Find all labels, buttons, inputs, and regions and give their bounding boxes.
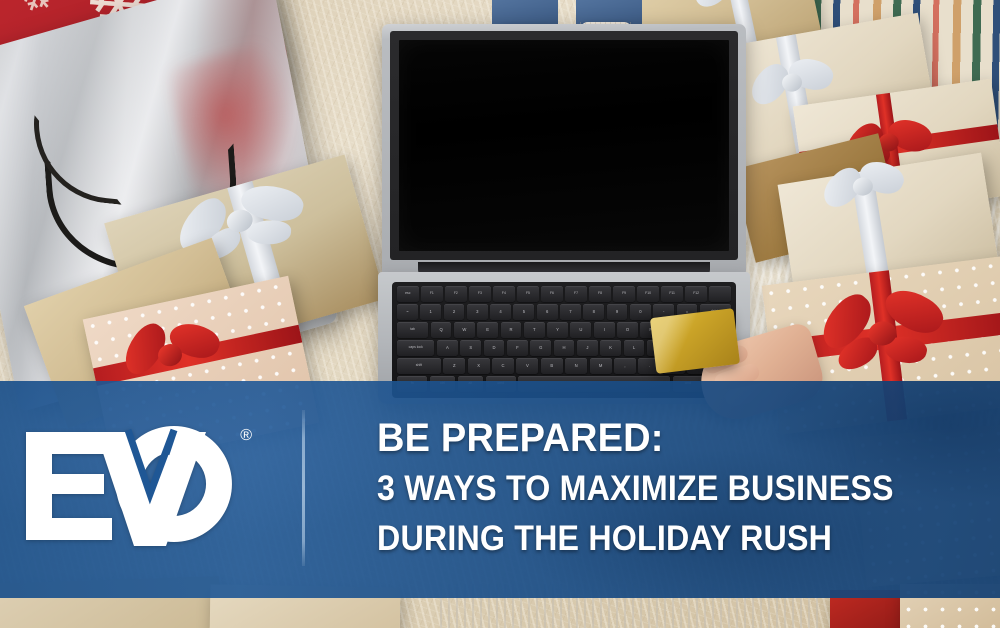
key[interactable]: Y xyxy=(547,322,568,338)
key[interactable]: 1 xyxy=(420,304,441,320)
evo-logo[interactable]: ® xyxy=(24,424,246,548)
key[interactable]: F8 xyxy=(589,286,611,302)
key[interactable]: A xyxy=(437,340,458,356)
key[interactable]: W xyxy=(454,322,475,338)
headline-line-2: 3 WAYS TO MAXIMIZE BUSINESS xyxy=(377,464,929,514)
key[interactable] xyxy=(709,286,731,302)
key[interactable]: U xyxy=(570,322,591,338)
key[interactable]: K xyxy=(600,340,621,356)
key[interactable]: F12 xyxy=(685,286,707,302)
key-tab[interactable]: tab xyxy=(397,322,428,338)
key[interactable]: F xyxy=(507,340,528,356)
key[interactable]: F6 xyxy=(541,286,563,302)
key[interactable]: O xyxy=(617,322,638,338)
keyboard-row-function[interactable]: esc F1 F2 F3 F4 F5 F6 F7 F8 F9 F10 F11 F… xyxy=(397,286,731,302)
key[interactable]: 6 xyxy=(537,304,558,320)
key[interactable]: S xyxy=(460,340,481,356)
key[interactable]: , xyxy=(614,358,636,374)
key[interactable]: F3 xyxy=(469,286,491,302)
key[interactable]: 3 xyxy=(467,304,488,320)
key[interactable]: J xyxy=(577,340,598,356)
key[interactable]: 5 xyxy=(513,304,534,320)
key[interactable]: F4 xyxy=(493,286,515,302)
key[interactable]: F7 xyxy=(565,286,587,302)
key[interactable]: F11 xyxy=(661,286,683,302)
key[interactable]: 7 xyxy=(560,304,581,320)
key[interactable]: G xyxy=(530,340,551,356)
key[interactable]: 9 xyxy=(607,304,628,320)
screen-bezel xyxy=(390,31,738,260)
key[interactable]: H xyxy=(554,340,575,356)
key[interactable]: esc xyxy=(397,286,419,302)
key[interactable]: M xyxy=(590,358,612,374)
key-caps-lock[interactable]: caps lock xyxy=(397,340,434,356)
key-shift-left[interactable]: shift xyxy=(397,358,441,374)
gold-credit-card xyxy=(650,308,740,374)
key[interactable]: L xyxy=(624,340,645,356)
key[interactable]: F1 xyxy=(421,286,443,302)
key[interactable]: 8 xyxy=(583,304,604,320)
headline-line-1: BE PREPARED: xyxy=(377,412,947,464)
key[interactable]: T xyxy=(524,322,545,338)
key[interactable]: 2 xyxy=(444,304,465,320)
key[interactable]: X xyxy=(468,358,490,374)
key[interactable]: B xyxy=(541,358,563,374)
key[interactable]: Z xyxy=(443,358,465,374)
key[interactable]: F10 xyxy=(637,286,659,302)
key[interactable]: R xyxy=(501,322,522,338)
laptop-lid xyxy=(382,24,746,274)
key[interactable]: D xyxy=(484,340,505,356)
key[interactable]: V xyxy=(516,358,538,374)
snowflake-icon: ❄ xyxy=(7,0,66,25)
headline: BE PREPARED: 3 WAYS TO MAXIMIZE BUSINESS… xyxy=(377,412,977,564)
key[interactable]: C xyxy=(492,358,514,374)
registered-trademark-icon: ® xyxy=(240,428,252,444)
headline-line-3: DURING THE HOLIDAY RUSH xyxy=(377,514,929,564)
key[interactable]: F9 xyxy=(613,286,635,302)
key[interactable]: F2 xyxy=(445,286,467,302)
key[interactable]: 4 xyxy=(490,304,511,320)
key[interactable]: ~ xyxy=(397,304,418,320)
key[interactable]: E xyxy=(477,322,498,338)
key[interactable]: N xyxy=(565,358,587,374)
vertical-divider xyxy=(302,410,305,566)
key[interactable]: 0 xyxy=(630,304,651,320)
banner-image: ❄ ❄ ❄ ❄ xyxy=(0,0,1000,628)
key[interactable]: F5 xyxy=(517,286,539,302)
key[interactable]: I xyxy=(594,322,615,338)
key[interactable]: Q xyxy=(431,322,452,338)
laptop-screen xyxy=(399,40,729,251)
